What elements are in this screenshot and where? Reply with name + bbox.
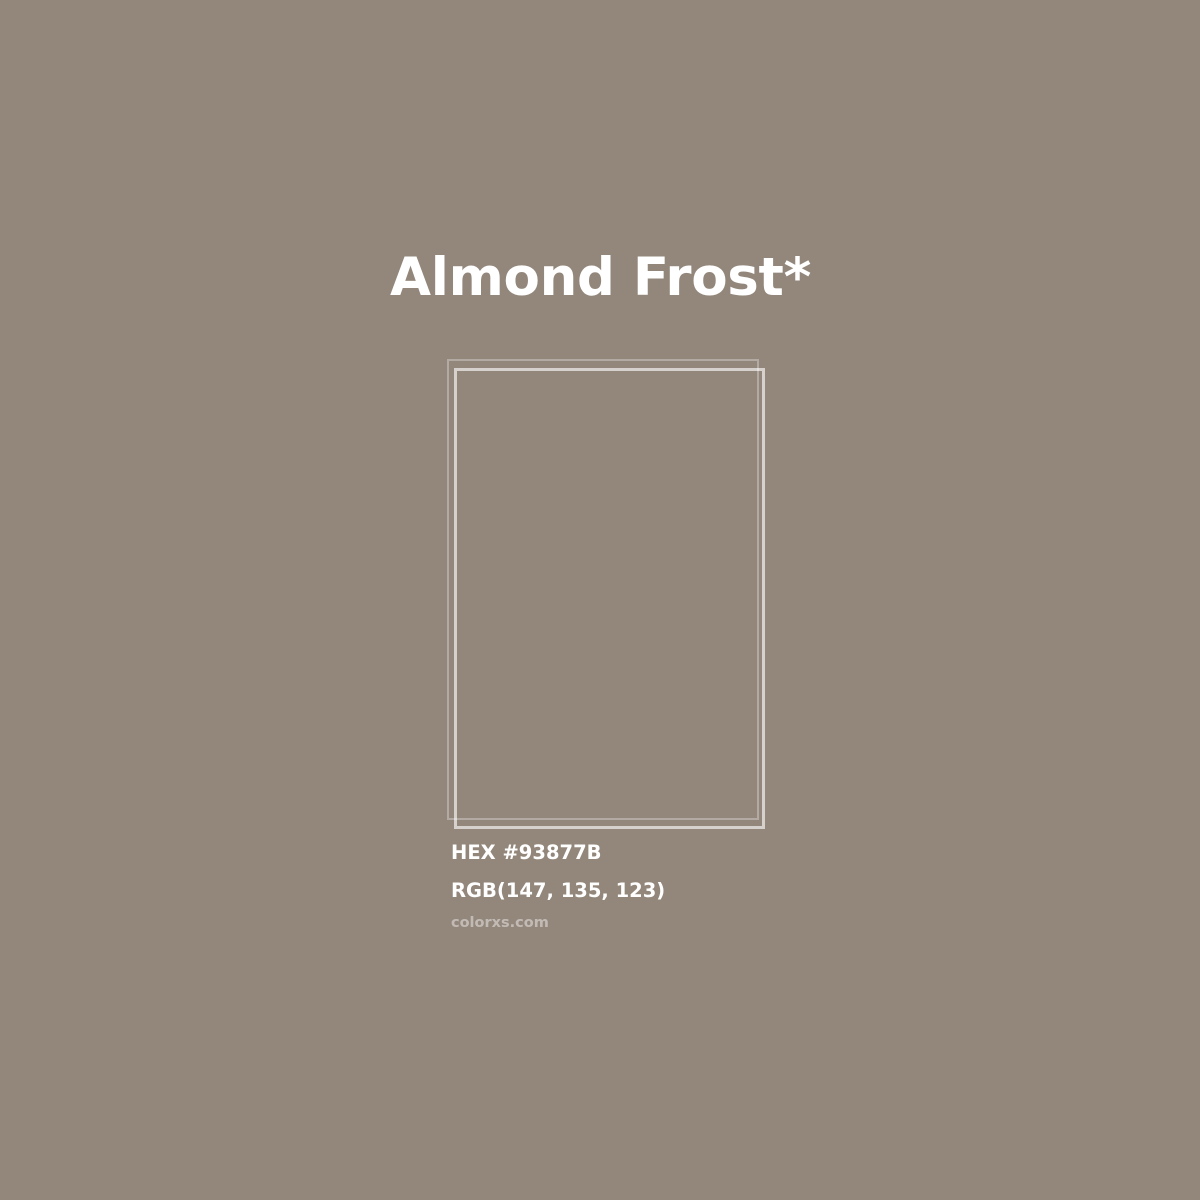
swatch-frame-back: [447, 359, 759, 820]
hex-value-label: HEX #93877B: [451, 834, 881, 872]
color-name-title: Almond Frost*: [390, 247, 811, 309]
color-swatch-card: Almond Frost* HEX #93877B RGB(147, 135, …: [0, 0, 1200, 1200]
source-watermark: colorxs.com: [451, 910, 881, 934]
rgb-value-label: RGB(147, 135, 123): [451, 872, 881, 910]
color-meta-block: HEX #93877B RGB(147, 135, 123) colorxs.c…: [451, 834, 881, 934]
swatch-frame-front: [454, 368, 765, 829]
color-swatch-frames: [0, 0, 1200, 1200]
